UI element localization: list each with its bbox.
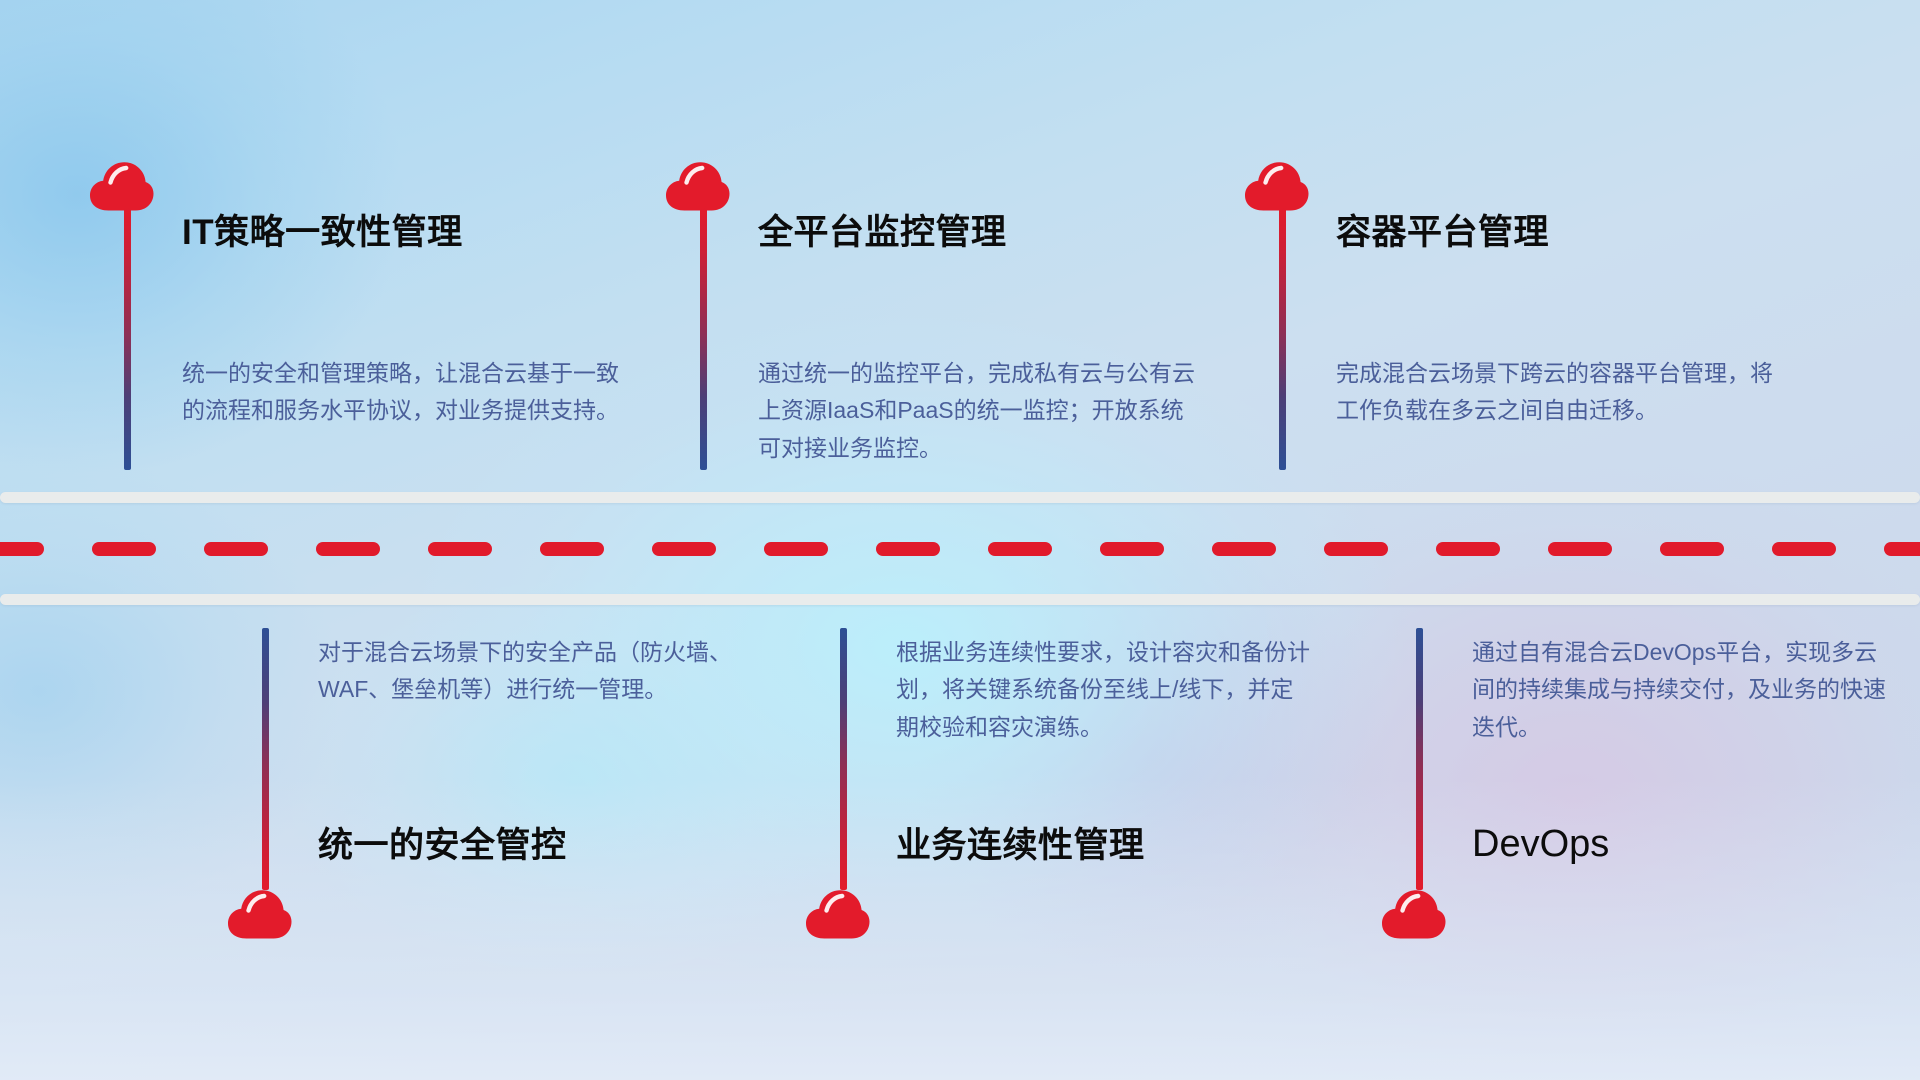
item-description-unified-security: 对于混合云场景下的安全产品（防火墙、WAF、堡垒机等）进行统一管理。 <box>318 634 738 709</box>
infographic-canvas: IT策略一致性管理 统一的安全和管理策略，让混合云基于一致的流程和服务水平协议，… <box>0 0 1920 1080</box>
road-dash-segment <box>988 542 1052 556</box>
item-description-business-continuity: 根据业务连续性要求，设计容灾和备份计划，将关键系统备份至线上/线下，并定期校验和… <box>896 634 1316 746</box>
cloud-icon <box>1243 160 1309 212</box>
road-dash-segment <box>540 542 604 556</box>
road-dash-segment <box>1884 542 1920 556</box>
road-dash-segment <box>428 542 492 556</box>
item-title-business-continuity: 业务连续性管理 <box>896 825 1145 867</box>
road-dash-segment <box>1212 542 1276 556</box>
pin-stem <box>1416 628 1423 890</box>
cloud-icon <box>226 888 292 940</box>
cloud-icon <box>1380 888 1446 940</box>
road-dash-segment <box>1660 542 1724 556</box>
pin-stem <box>1279 208 1286 470</box>
road-dash-segment <box>1772 542 1836 556</box>
item-title-it-policy-consistency: IT策略一致性管理 <box>182 212 463 254</box>
road-dash-segment <box>204 542 268 556</box>
road-center-dashes <box>0 542 1920 556</box>
cloud-icon <box>88 160 154 212</box>
road-dash-segment <box>1548 542 1612 556</box>
road-dash-segment <box>1324 542 1388 556</box>
road-dash-segment <box>876 542 940 556</box>
road-dash-segment <box>652 542 716 556</box>
cloud-icon <box>664 160 730 212</box>
road-rail-bottom <box>0 594 1920 605</box>
pin-stem <box>124 208 131 470</box>
road-dash-segment <box>764 542 828 556</box>
item-description-full-platform-monitoring: 通过统一的监控平台，完成私有云与公有云上资源IaaS和PaaS的统一监控；开放系… <box>758 355 1198 467</box>
pin-stem <box>840 628 847 890</box>
road-dash-segment <box>1436 542 1500 556</box>
item-description-container-platform: 完成混合云场景下跨云的容器平台管理，将工作负载在多云之间自由迁移。 <box>1336 355 1776 430</box>
item-title-unified-security: 统一的安全管控 <box>318 825 567 867</box>
item-title-container-platform: 容器平台管理 <box>1336 212 1549 254</box>
item-title-devops: DevOps <box>1472 822 1609 868</box>
road-dash-segment <box>92 542 156 556</box>
item-description-devops: 通过自有混合云DevOps平台，实现多云间的持续集成与持续交付，及业务的快速迭代… <box>1472 634 1892 746</box>
item-title-full-platform-monitoring: 全平台监控管理 <box>758 212 1007 254</box>
road-dash-segment <box>0 542 44 556</box>
pin-stem <box>700 208 707 470</box>
road-dash-segment <box>316 542 380 556</box>
item-description-it-policy-consistency: 统一的安全和管理策略，让混合云基于一致的流程和服务水平协议，对业务提供支持。 <box>182 355 622 430</box>
road-rail-top <box>0 492 1920 503</box>
cloud-icon <box>804 888 870 940</box>
pin-stem <box>262 628 269 890</box>
road-dash-segment <box>1100 542 1164 556</box>
